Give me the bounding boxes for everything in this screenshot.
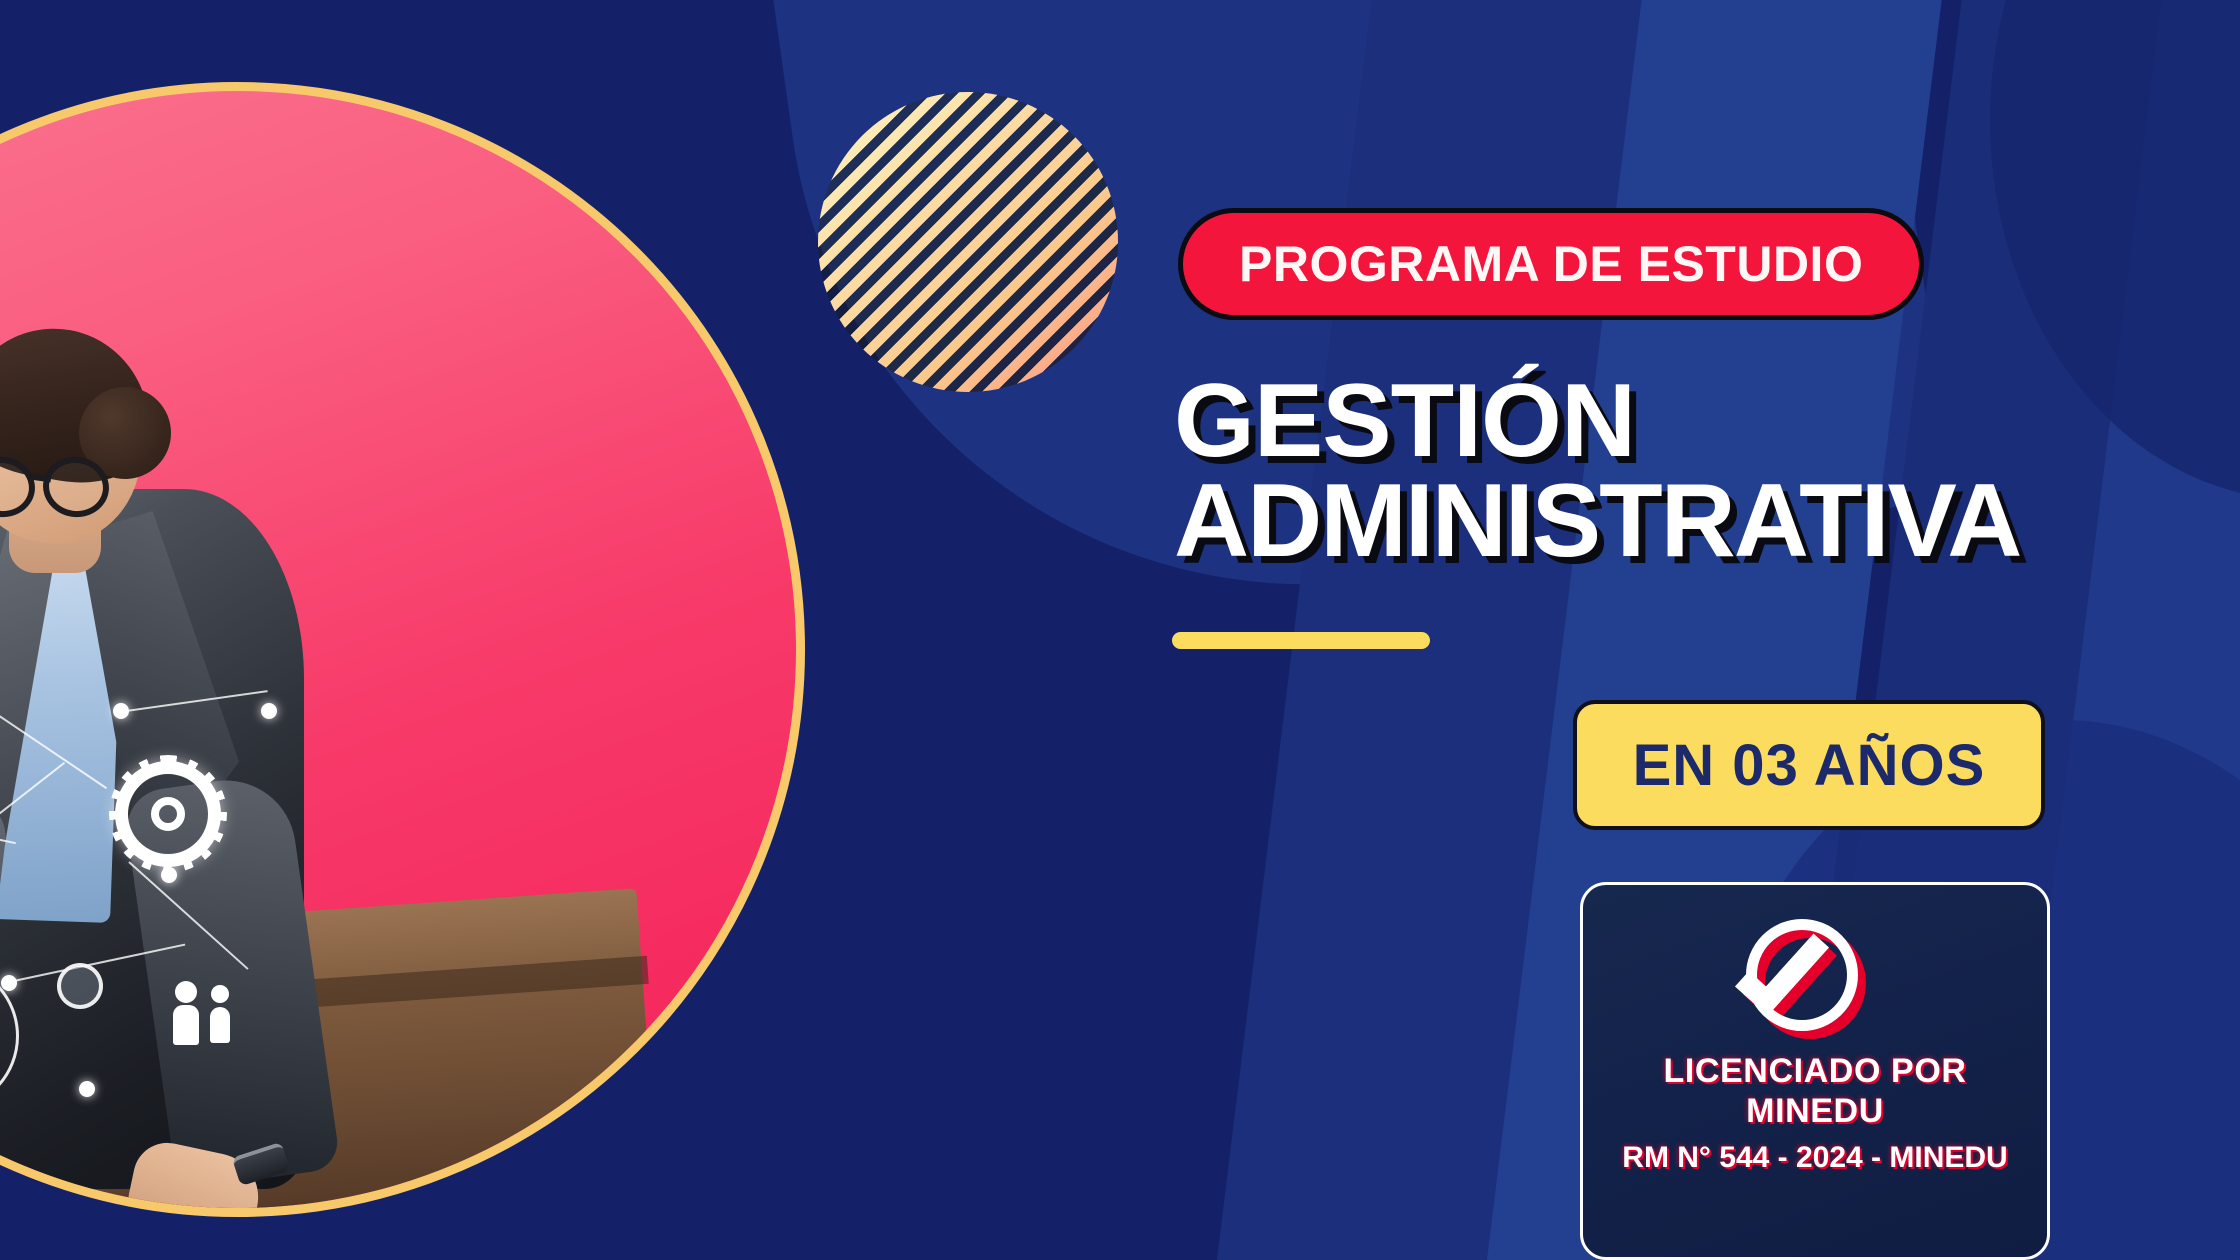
- license-title-line-2: MINEDU: [1746, 1091, 1884, 1131]
- license-title-line-1: LICENCIADO POR: [1663, 1051, 1966, 1091]
- headline-line-1: GESTIÓN: [1174, 372, 2234, 472]
- license-resolution: RM N° 544 - 2024 - MINEDU: [1622, 1141, 2007, 1175]
- promo-banner: PROGRAMA DE ESTUDIO GESTIÓN ADMINISTRATI…: [0, 0, 2240, 1260]
- businesswoman-photo: [0, 91, 796, 1208]
- duration-badge-label: EN 03 AÑOS: [1633, 732, 1986, 799]
- headline-line-2: ADMINISTRATIVA: [1174, 472, 2234, 572]
- stripe-gradient-tint: [818, 92, 1118, 392]
- duration-badge: EN 03 AÑOS: [1573, 700, 2045, 830]
- photo-circle: [0, 82, 805, 1217]
- check-circle-icon: [1740, 909, 1890, 1051]
- striped-circle-decoration: [818, 92, 1118, 392]
- headline-underline: [1172, 632, 1430, 649]
- program-badge: PROGRAMA DE ESTUDIO: [1178, 208, 1924, 320]
- content-column: PROGRAMA DE ESTUDIO GESTIÓN ADMINISTRATI…: [1158, 0, 2240, 1260]
- license-card: LICENCIADO POR MINEDU RM N° 544 - 2024 -…: [1580, 882, 2050, 1260]
- page-title: GESTIÓN ADMINISTRATIVA: [1174, 372, 2234, 572]
